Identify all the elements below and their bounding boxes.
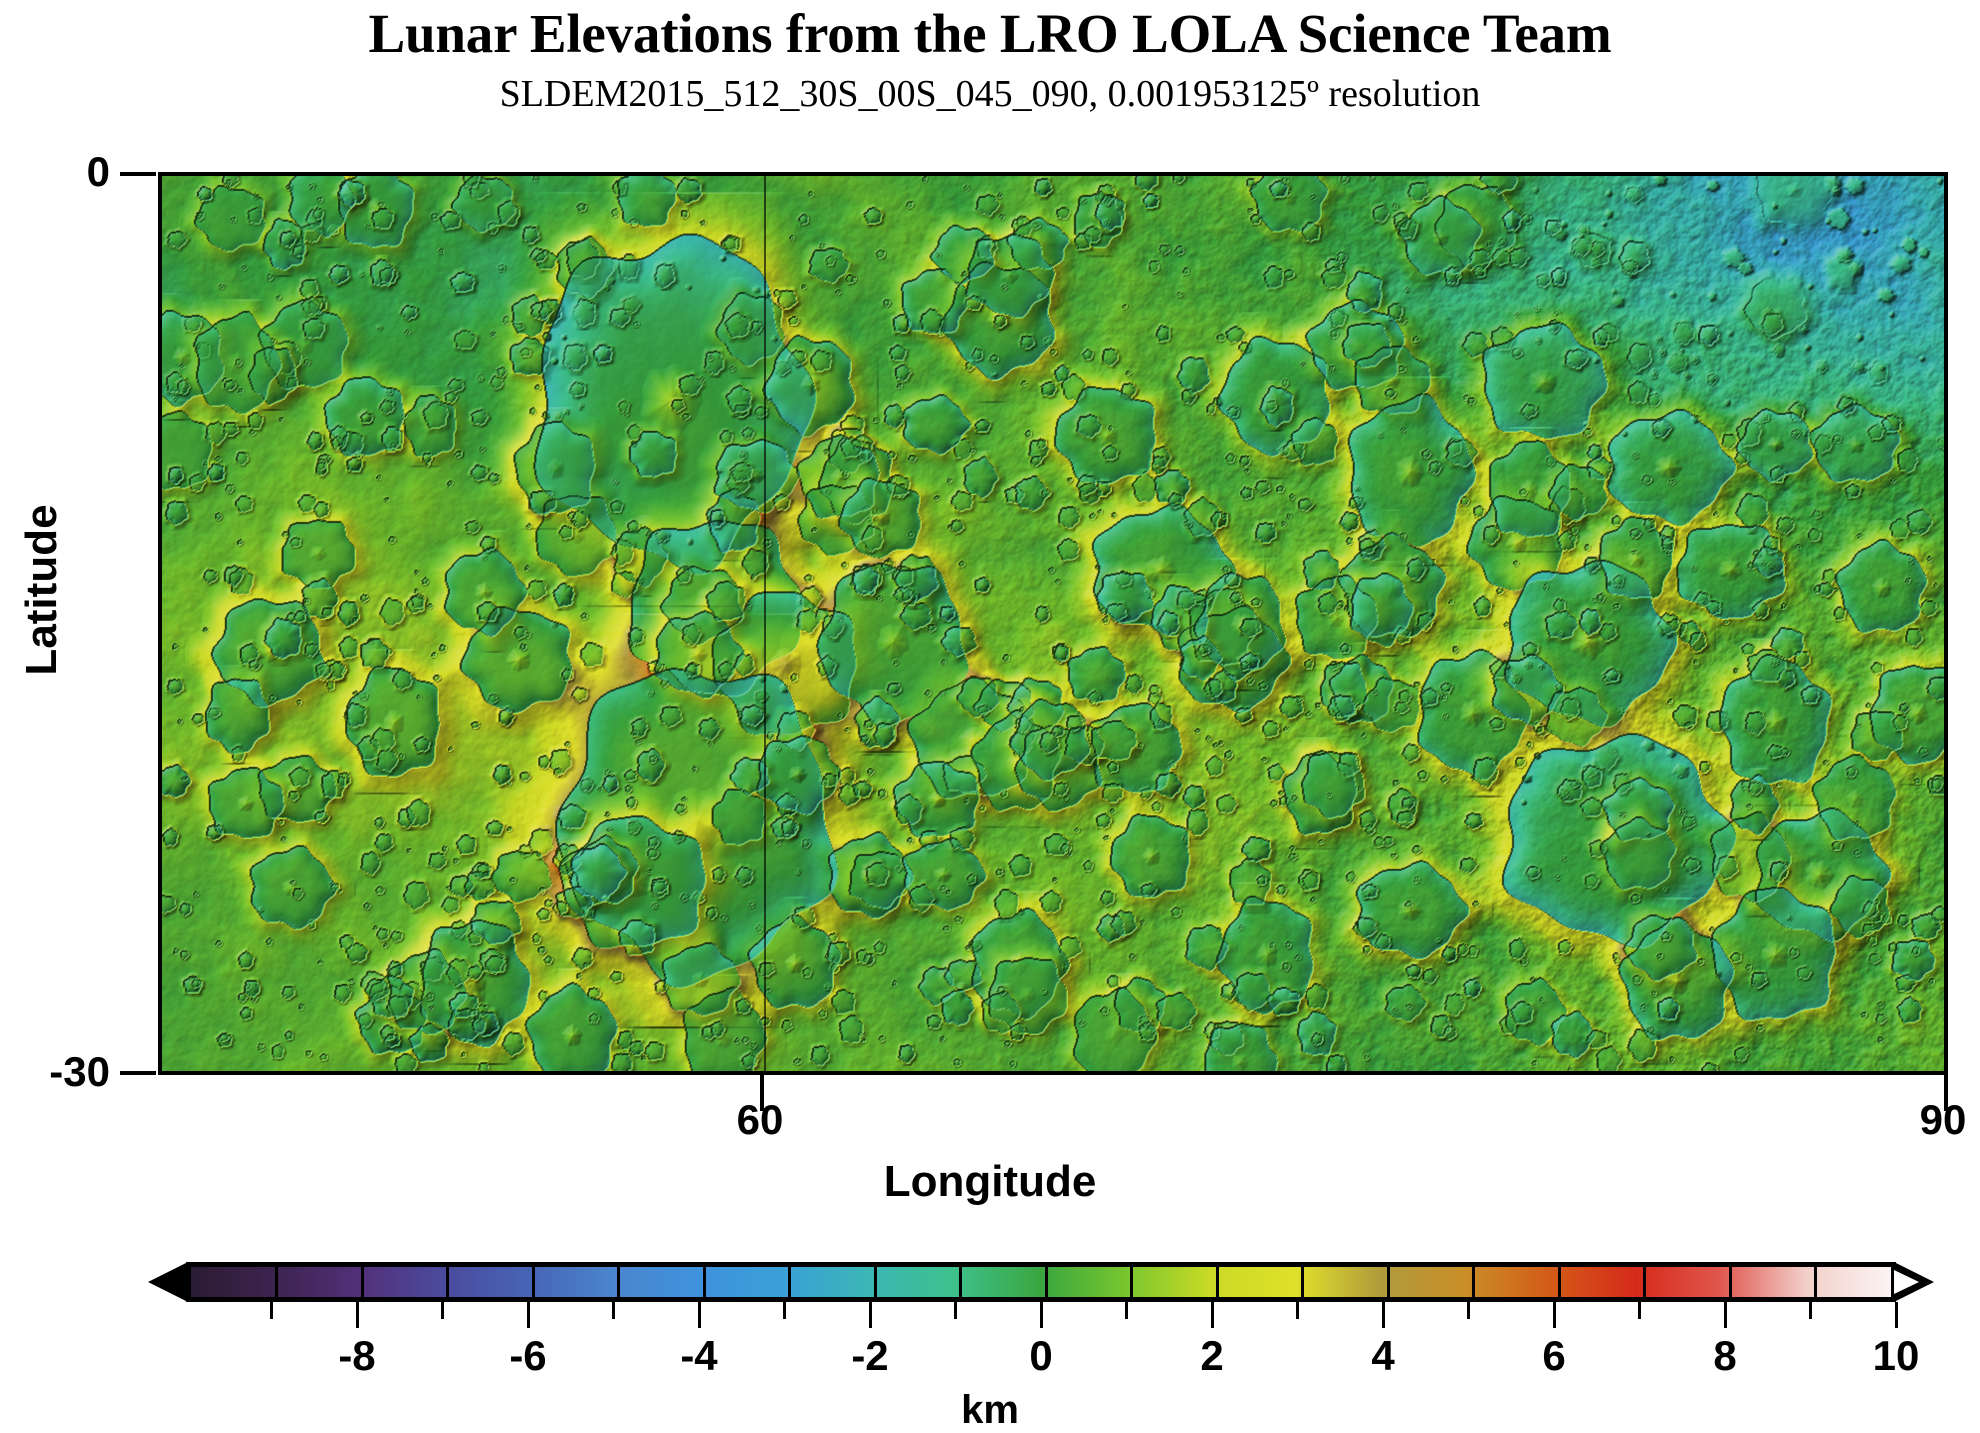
colorbar-tick-major: [1553, 1302, 1556, 1328]
page-title: Lunar Elevations from the LRO LOLA Scien…: [0, 2, 1980, 65]
colorbar-ticklabel: 0: [961, 1332, 1121, 1380]
colorbar-bar[interactable]: [186, 1262, 1896, 1302]
map-plot-area[interactable]: [158, 172, 1948, 1075]
colorbar-ticklabel: 8: [1645, 1332, 1805, 1380]
colorbar-segment-divider: [1130, 1267, 1133, 1297]
colorbar-segment-divider: [1045, 1267, 1048, 1297]
colorbar-ticklabel: 4: [1303, 1332, 1463, 1380]
x-axis-ticklabel-90: 90: [1878, 1096, 1980, 1144]
colorbar-segment-divider: [1643, 1267, 1646, 1297]
y-axis-ticklabel--30: -30: [0, 1048, 110, 1096]
colorbar-segment-divider: [1387, 1267, 1390, 1297]
colorbar-tick-major: [698, 1302, 701, 1328]
colorbar-tick-major: [527, 1302, 530, 1328]
colorbar-tick-minor: [783, 1302, 786, 1319]
colorbar-ticklabel: 6: [1474, 1332, 1634, 1380]
colorbar-extend-high-arrow-fill: [1894, 1270, 1919, 1294]
y-tick--30: [120, 1071, 156, 1075]
colorbar-tick-major: [1040, 1302, 1043, 1328]
colorbar-tick-minor: [1638, 1302, 1641, 1319]
colorbar-tick-minor: [1467, 1302, 1470, 1319]
colorbar-segment-divider: [1558, 1267, 1561, 1297]
colorbar-segment-divider: [1216, 1267, 1219, 1297]
y-axis-ticklabel-0: 0: [10, 148, 110, 196]
colorbar-segment-divider: [959, 1267, 962, 1297]
colorbar-tick-minor: [1125, 1302, 1128, 1319]
colorbar-tick-minor: [1296, 1302, 1299, 1319]
colorbar-segment-divider: [703, 1267, 706, 1297]
colorbar-segment-divider: [1814, 1267, 1817, 1297]
colorbar-segment-divider: [275, 1267, 278, 1297]
colorbar-tick-major: [1211, 1302, 1214, 1328]
colorbar-ticklabel: 2: [1132, 1332, 1292, 1380]
page-subtitle: SLDEM2015_512_30S_00S_045_090, 0.0019531…: [0, 72, 1980, 116]
colorbar-segment-divider: [874, 1267, 877, 1297]
colorbar-tick-minor: [612, 1302, 615, 1319]
y-tick-0: [120, 172, 156, 176]
colorbar-segment-divider: [1472, 1267, 1475, 1297]
colorbar-segment-divider: [532, 1267, 535, 1297]
colorbar-tick-major: [869, 1302, 872, 1328]
colorbar-tick-minor: [441, 1302, 444, 1319]
colorbar: -8-6-4-20246810 km: [0, 1248, 1980, 1422]
colorbar-tick-major: [356, 1302, 359, 1328]
colorbar-tick-minor: [1809, 1302, 1812, 1319]
x-axis-title: Longitude: [0, 1157, 1980, 1207]
colorbar-ticklabel: -4: [619, 1332, 779, 1380]
x-axis-ticklabel-60: 60: [680, 1096, 840, 1144]
colorbar-segment-divider: [446, 1267, 449, 1297]
colorbar-tick-major: [1724, 1302, 1727, 1328]
colorbar-unit-label: km: [0, 1388, 1980, 1433]
colorbar-ticklabel: -8: [277, 1332, 437, 1380]
colorbar-tick-major: [1895, 1302, 1898, 1328]
colorbar-ticklabel: -2: [790, 1332, 950, 1380]
colorbar-segment-divider: [617, 1267, 620, 1297]
colorbar-segment-divider: [361, 1267, 364, 1297]
y-axis-title: Latitude: [17, 460, 67, 720]
colorbar-tick-major: [1382, 1302, 1385, 1328]
lunar-elevation-heatmap: [162, 176, 1944, 1071]
colorbar-extend-low-arrow-icon: [148, 1262, 188, 1302]
colorbar-ticklabel: 10: [1816, 1332, 1976, 1380]
colorbar-segment-divider: [1301, 1267, 1304, 1297]
colorbar-tick-minor: [954, 1302, 957, 1319]
colorbar-segment-divider: [1729, 1267, 1732, 1297]
colorbar-tick-minor: [270, 1302, 273, 1319]
colorbar-segment-divider: [788, 1267, 791, 1297]
colorbar-ticklabel: -6: [448, 1332, 608, 1380]
